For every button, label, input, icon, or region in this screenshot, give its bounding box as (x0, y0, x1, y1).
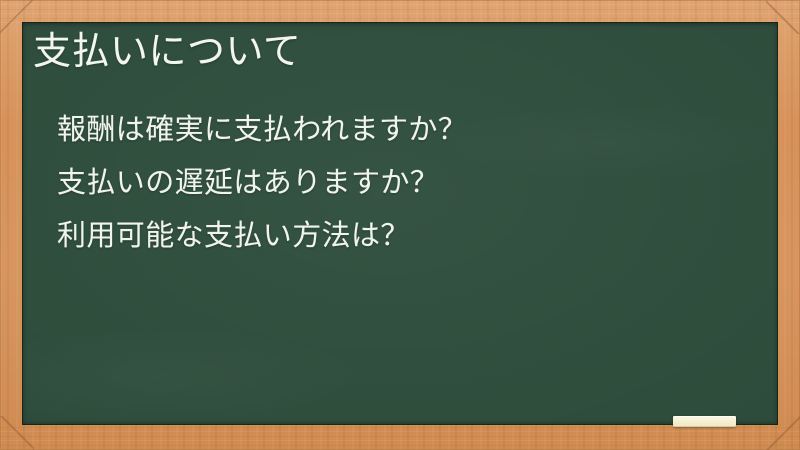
frame-grain-bottom (0, 425, 800, 450)
question-item-3: 利用可能な支払い方法は？ (57, 210, 764, 263)
question-list: 報酬は確実に支払われますか？ 支払いの遅延はありますか？ 利用可能な支払い方法は… (57, 104, 764, 263)
frame-grain-top (0, 0, 800, 23)
question-item-1: 報酬は確実に支払われますか？ (57, 104, 764, 157)
chalkboard-slide: 支払いについて 報酬は確実に支払われますか？ 支払いの遅延はありますか？ 利用可… (0, 0, 800, 450)
chalkboard-content: 支払いについて 報酬は確実に支払われますか？ 支払いの遅延はありますか？ 利用可… (22, 22, 778, 425)
chalk-stick (673, 416, 736, 427)
chalkboard-surface: 支払いについて 報酬は確実に支払われますか？ 支払いの遅延はありますか？ 利用可… (22, 22, 778, 425)
slide-title: 支払いについて (33, 30, 301, 75)
question-item-2: 支払いの遅延はありますか？ (57, 157, 764, 210)
